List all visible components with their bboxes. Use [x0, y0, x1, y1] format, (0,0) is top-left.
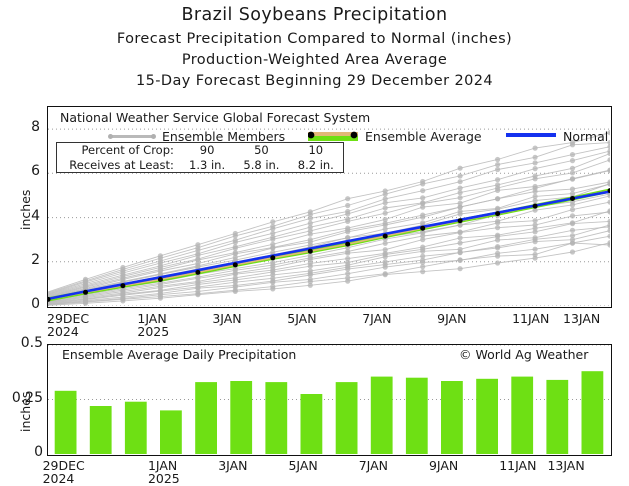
x-tick-top-6: 11JAN	[512, 311, 549, 326]
table-row: Percent of Crop: 90 50 10	[57, 143, 343, 158]
bar-4	[195, 382, 217, 454]
x-tick-bottom-4: 7JAN	[359, 458, 388, 473]
x-tick-year-top-1: 2025	[137, 324, 169, 339]
x-tick-bottom-2: 3JAN	[218, 458, 247, 473]
bar-10	[406, 378, 428, 454]
crop-amt-0: 1.3 in.	[180, 158, 234, 173]
bar-1	[90, 406, 112, 454]
x-tick-year-bottom-0: 2024	[43, 471, 75, 486]
percent-of-crop-box: Percent of Crop: 90 50 10 Receives at Le…	[56, 142, 344, 173]
bar-2	[125, 402, 147, 454]
crop-amt-1: 5.8 in.	[234, 158, 288, 173]
bar-12	[476, 379, 498, 454]
x-tick-top-5: 9JAN	[437, 311, 466, 326]
bar-15	[582, 371, 604, 454]
x-tick-top-3: 5JAN	[287, 311, 316, 326]
y-tick-top-0: 0	[14, 296, 40, 312]
subtitle-2: Production-Weighted Area Average	[0, 52, 629, 68]
bar-11	[441, 381, 463, 454]
crop-pct-1: 50	[234, 143, 288, 158]
x-tick-bottom-3: 5JAN	[288, 458, 317, 473]
accumulated-precip-svg	[48, 107, 610, 306]
y-tick-bottom-0: 0	[0, 444, 43, 460]
y-tick-top-1: 2	[14, 252, 40, 268]
copyright-label: © World Ag Weather	[459, 347, 588, 362]
chart-page: Brazil Soybeans Precipitation Forecast P…	[0, 0, 629, 483]
y-tick-bottom-1: 0.25	[0, 390, 43, 406]
crop-amt-2: 8.2 in.	[289, 158, 343, 173]
x-tick-top-2: 3JAN	[212, 311, 241, 326]
bar-8	[336, 382, 358, 454]
x-tick-bottom-6: 11JAN	[499, 458, 536, 473]
x-tick-bottom-7: 13JAN	[547, 458, 584, 473]
table-row: Receives at Least: 1.3 in. 5.8 in. 8.2 i…	[57, 158, 343, 173]
bar-13	[511, 377, 533, 454]
bar-0	[55, 391, 77, 454]
crop-pct-0: 90	[180, 143, 234, 158]
bar-9	[371, 377, 393, 454]
bar-5	[230, 381, 252, 454]
y-tick-top-3: 6	[14, 163, 40, 179]
bar-7	[301, 394, 323, 454]
y-tick-top-2: 4	[14, 208, 40, 224]
y-tick-bottom-2: 0.5	[0, 335, 43, 351]
y-tick-top-4: 8	[14, 119, 40, 135]
x-tick-year-bottom-1: 2025	[148, 471, 180, 486]
x-tick-year-top-0: 2024	[47, 324, 79, 339]
x-tick-bottom-5: 9JAN	[429, 458, 458, 473]
bar-6	[265, 382, 287, 454]
x-tick-top-7: 13JAN	[563, 311, 600, 326]
crop-table: Percent of Crop: 90 50 10 Receives at Le…	[57, 143, 343, 172]
daily-precip-title: Ensemble Average Daily Precipitation	[62, 347, 296, 362]
crop-row-label: Percent of Crop:	[57, 143, 180, 158]
bar-3	[160, 410, 182, 454]
subtitle-1: Forecast Precipitation Compared to Norma…	[0, 31, 629, 47]
crop-row-label: Receives at Least:	[57, 158, 180, 173]
subtitle-3: 15-Day Forecast Beginning 29 December 20…	[0, 73, 629, 89]
bar-14	[546, 380, 568, 454]
x-tick-top-4: 7JAN	[362, 311, 391, 326]
page-title: Brazil Soybeans Precipitation	[0, 5, 629, 25]
crop-pct-2: 10	[289, 143, 343, 158]
accumulated-precip-chart	[47, 106, 612, 308]
